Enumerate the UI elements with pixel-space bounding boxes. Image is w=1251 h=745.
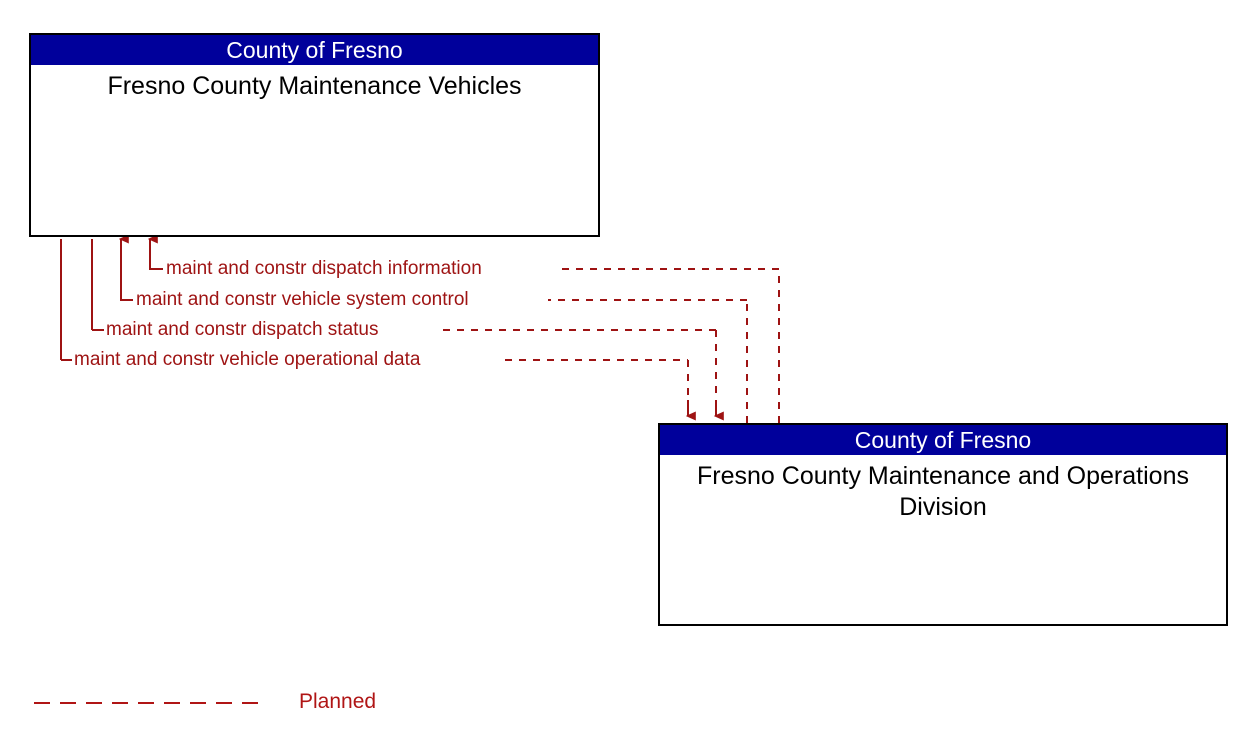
flow-label-maint-and-constr-dispatch-status[interactable]: maint and constr dispatch status <box>104 320 380 340</box>
node-fresno-county-maintenance-and-operations-division[interactable]: County of Fresno Fresno County Maintenan… <box>658 423 1228 626</box>
node-title: Fresno County Maintenance Vehicles <box>31 65 598 102</box>
legend-line-planned <box>34 688 454 718</box>
architecture-diagram: County of Fresno Fresno County Maintenan… <box>0 0 1251 745</box>
flow-label-maint-and-constr-vehicle-system-control[interactable]: maint and constr vehicle system control <box>134 290 471 310</box>
node-fresno-county-maintenance-vehicles[interactable]: County of Fresno Fresno County Maintenan… <box>29 33 600 237</box>
flow-label-maint-and-constr-vehicle-operational-data[interactable]: maint and constr vehicle operational dat… <box>72 350 422 370</box>
node-stakeholder-header: County of Fresno <box>31 35 598 65</box>
legend: Planned <box>34 688 454 718</box>
node-title: Fresno County Maintenance and Operations… <box>660 455 1226 523</box>
node-stakeholder-header: County of Fresno <box>660 425 1226 455</box>
legend-label-planned: Planned <box>299 688 376 716</box>
flow-label-maint-and-constr-dispatch-information[interactable]: maint and constr dispatch information <box>164 259 484 279</box>
